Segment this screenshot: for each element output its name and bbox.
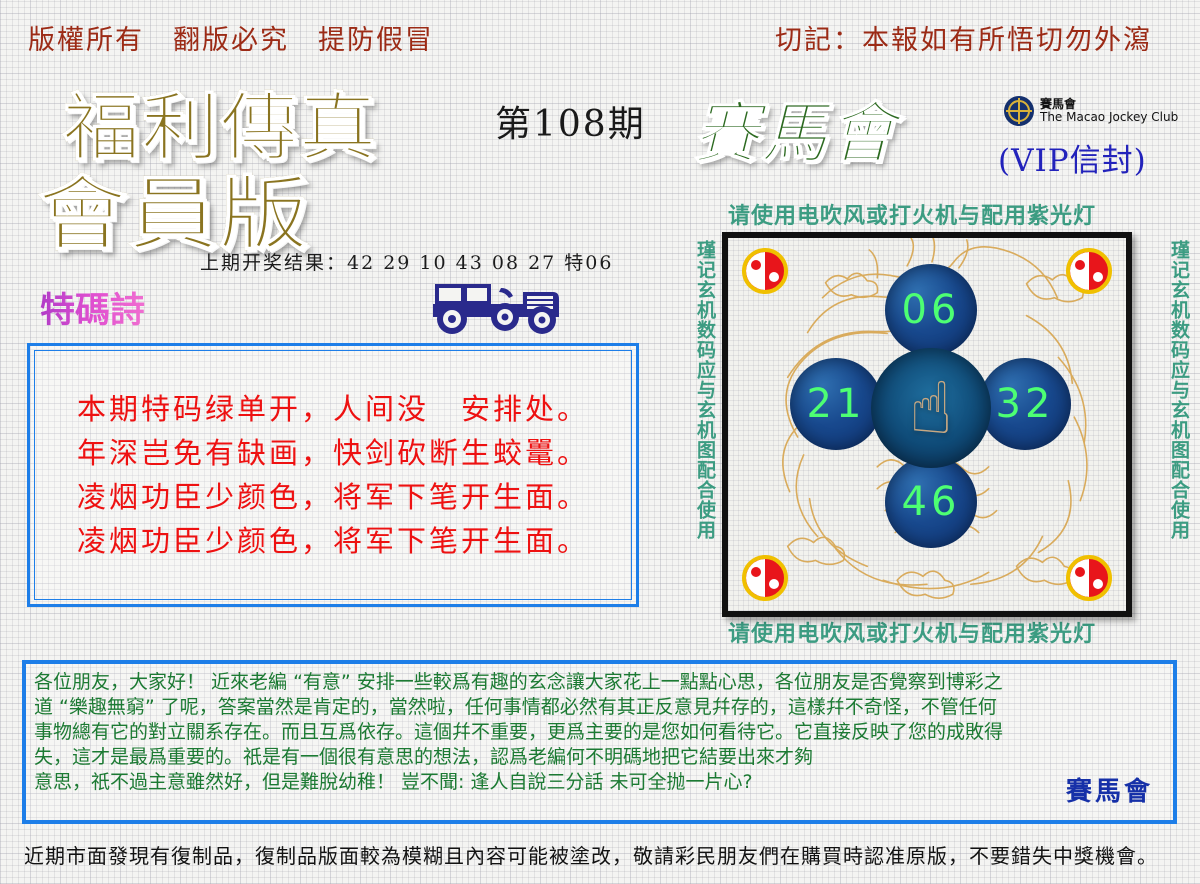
macao-jockey-club-logo: 賽馬會 The Macao Jockey Club — [1004, 96, 1178, 126]
vertical-hint-left: 瑾记玄机数码应与玄机图配合使用 — [684, 240, 714, 620]
anti-counterfeit-note: 近期市面發現有復制品，復制品版面較為模糊且內容可能被塗改，敬請彩民朋友們在購買時… — [24, 840, 1158, 869]
message-line: 失，這才是最爲重要的。祇是有一個很有意思的想法，認爲老編何不明碼地把它結要出來才… — [34, 745, 1165, 770]
vertical-hint-right: 瑾记玄机数码应与玄机图配合使用 — [1158, 240, 1188, 620]
copyright-notice-left: 版權所有 翻版必究 提防假冒 — [28, 18, 434, 57]
message-signature: 賽馬會 — [1066, 771, 1153, 808]
poem-line: 年深岂免有缺画，快剑砍断生蛟鼍。 — [35, 431, 631, 475]
newsletter-page: 版權所有 翻版必究 提防假冒 切記：本報如有所悟切勿外瀉 福利傳真 會員版 第1… — [0, 0, 1200, 884]
yin-yang-icon — [742, 555, 788, 601]
issue-number: 第108期 — [495, 95, 646, 147]
message-line: 意思，祇不過主意雖然好，但是難脫幼稚！ 豈不聞: 逢人自說三分話 未可全抛一片心… — [34, 770, 1165, 795]
yin-yang-icon — [1066, 248, 1112, 294]
jockey-club-emblem-icon — [1004, 96, 1034, 126]
vip-envelope-label: (VIP信封) — [998, 135, 1147, 180]
usage-hint-bottom: 请使用电吹风或打火机与配用紫光灯 — [728, 616, 1096, 648]
yin-yang-icon — [1066, 555, 1112, 601]
lucky-number-ball-left: 21 — [790, 358, 882, 450]
vintage-car-icon — [415, 270, 570, 340]
confidentiality-notice-right: 切記：本報如有所悟切勿外瀉 — [775, 18, 1152, 57]
yin-yang-icon — [742, 248, 788, 294]
lucky-number-ball-top: 06 — [885, 264, 977, 356]
usage-hint-top: 请使用电吹风或打火机与配用紫光灯 — [728, 198, 1096, 230]
mjc-english-name: The Macao Jockey Club — [1040, 111, 1178, 124]
poem-heading: 特碼詩 — [40, 282, 145, 333]
center-medallion: ☝ — [871, 348, 991, 468]
poem-box: 本期特码绿单开，人间没 安排处。 年深岂免有缺画，快剑砍断生蛟鼍。 凌烟功臣少颜… — [27, 343, 639, 607]
editor-message-box: 各位朋友，大家好！ 近來老編 “有意” 安排一些較爲有趣的玄念讓大家花上一點點心… — [22, 660, 1177, 824]
message-line: 事物總有它的對立關系存在。而且互爲依存。這個幷不重要，更爲主要的是您如何看待它。… — [34, 720, 1165, 745]
lucky-number-ball-bottom: 46 — [885, 456, 977, 548]
poem-line: 凌烟功臣少颜色，将军下笔开生面。 — [35, 475, 631, 519]
jockey-club-wordmark: 賽馬會 — [693, 80, 897, 176]
message-line: 各位朋友，大家好！ 近來老編 “有意” 安排一些較爲有趣的玄念讓大家花上一點點心… — [34, 670, 1165, 695]
lucky-number-ball-right: 32 — [979, 358, 1071, 450]
mystic-diagram-panel: 06 21 32 46 ☝ — [722, 232, 1132, 617]
poem-line: 本期特码绿单开，人间没 安排处。 — [35, 387, 631, 431]
poem-box-inner: 本期特码绿单开，人间没 安排处。 年深岂免有缺画，快剑砍断生蛟鼍。 凌烟功臣少颜… — [34, 350, 632, 600]
message-line: 道 “樂趣無窮” 了呢，答案當然是肯定的，當然啦，任何事情都必然有其正反意見幷存… — [34, 695, 1165, 720]
macao-jockey-club-text: 賽馬會 The Macao Jockey Club — [1040, 98, 1178, 124]
pointing-hand-icon: ☝ — [909, 372, 953, 444]
poem-line: 凌烟功臣少颜色，将军下笔开生面。 — [35, 519, 631, 563]
